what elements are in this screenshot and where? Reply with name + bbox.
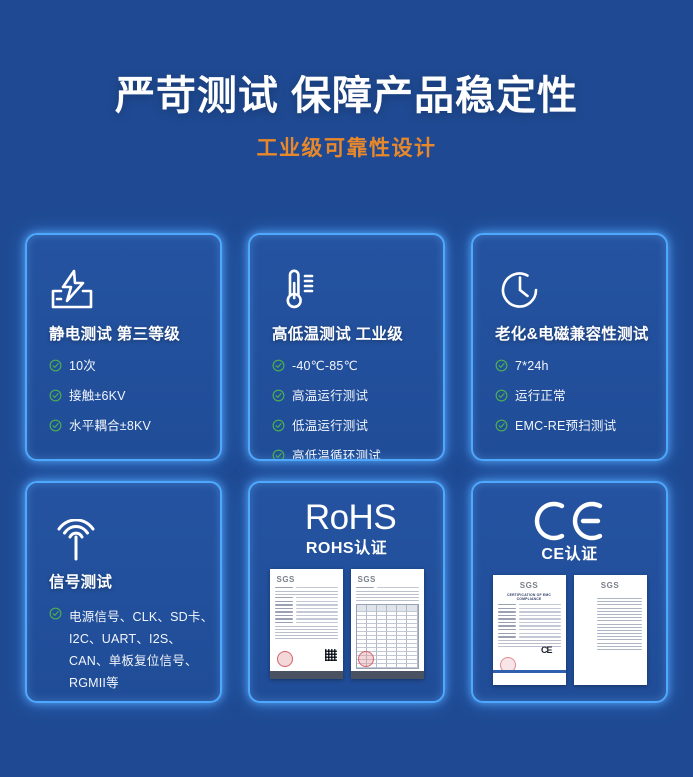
check-circle-icon <box>272 359 285 377</box>
cert-label: ROHS认证 <box>250 539 443 559</box>
check-circle-icon <box>495 419 508 437</box>
page-title: 严苛测试 保障产品稳定性 <box>0 0 693 118</box>
list-item: 高低温循环测试 <box>272 448 443 461</box>
card-temperature-test[interactable]: 高低温测试 工业级 -40℃-85℃ 高温运行测试 <box>248 233 445 461</box>
sgs-logo: SGS <box>579 581 642 590</box>
check-circle-icon <box>272 449 285 461</box>
certificate-seal <box>358 651 374 667</box>
esd-lightning-icon <box>49 257 220 315</box>
list-item: 7*24h <box>495 358 666 377</box>
certificate-thumbnails: SGS CERTIFICATION OF EMC COMPLIANCE <box>473 575 666 685</box>
rohs-logo: RoHS <box>250 499 443 537</box>
list-item-label: 低温运行测试 <box>292 418 368 435</box>
thermometer-icon <box>272 257 443 315</box>
page-subtitle: 工业级可靠性设计 <box>0 118 693 162</box>
list-item: EMC-RE预扫测试 <box>495 418 666 437</box>
clock-icon <box>495 257 666 315</box>
list-item: 电源信号、CLK、SD卡、I2C、UART、I2S、CAN、单板复位信号、RGM… <box>49 606 220 694</box>
list-item-label: EMC-RE预扫测试 <box>515 418 616 435</box>
document-footer <box>270 671 343 679</box>
list-item-label: 运行正常 <box>515 388 566 405</box>
list-item: 运行正常 <box>495 388 666 407</box>
sgs-logo: SGS <box>498 581 561 590</box>
ce-logo <box>473 499 666 543</box>
list-item: 接触±6KV <box>49 388 220 407</box>
document-footer <box>351 671 424 679</box>
card-item-list: 10次 接触±6KV 水平耦合±8KV <box>49 358 220 437</box>
check-circle-icon <box>495 389 508 407</box>
card-esd-test[interactable]: 静电测试 第三等级 10次 接触±6KV <box>25 233 222 461</box>
qr-code <box>325 649 337 661</box>
list-item-label: 接触±6KV <box>69 388 126 405</box>
sgs-logo: SGS <box>358 575 419 584</box>
list-item: 10次 <box>49 358 220 377</box>
certificate-document[interactable]: SGS CERTIFICATION OF EMC COMPLIANCE <box>493 575 566 685</box>
card-title: 信号测试 <box>49 573 220 593</box>
certificate-document[interactable]: SGS <box>270 569 343 679</box>
card-title: 静电测试 第三等级 <box>49 325 220 345</box>
card-signal-test[interactable]: 信号测试 电源信号、CLK、SD卡、I2C、UART、I2S、CAN、单板复位信… <box>25 481 222 703</box>
page-header: 严苛测试 保障产品稳定性 工业级可靠性设计 <box>0 0 693 162</box>
list-item-label: 水平耦合±8KV <box>69 418 151 435</box>
card-aging-emc-test[interactable]: 老化&电磁兼容性测试 7*24h 运行正常 <box>471 233 668 461</box>
list-item-label: -40℃-85℃ <box>292 358 358 375</box>
card-item-list: -40℃-85℃ 高温运行测试 低温运行测试 <box>272 358 443 461</box>
check-circle-icon <box>49 389 62 407</box>
check-circle-icon <box>272 389 285 407</box>
card-rohs-certification[interactable]: RoHS ROHS认证 SGS <box>248 481 445 703</box>
list-item-label: 10次 <box>69 358 96 375</box>
certificate-seal <box>277 651 293 667</box>
check-circle-icon <box>49 419 62 437</box>
ce-mark-icon: CE <box>541 645 552 655</box>
list-item: 水平耦合±8KV <box>49 418 220 437</box>
document-footer <box>493 670 566 673</box>
list-item: -40℃-85℃ <box>272 358 443 377</box>
sgs-logo: SGS <box>277 575 338 584</box>
card-ce-certification[interactable]: CE认证 SGS CERTIFICATION OF EMC COMPLIANCE <box>471 481 668 703</box>
list-item-label: 7*24h <box>515 358 549 375</box>
certificate-document[interactable]: SGS <box>351 569 424 679</box>
list-item-label: 高温运行测试 <box>292 388 368 405</box>
card-item-list: 电源信号、CLK、SD卡、I2C、UART、I2S、CAN、单板复位信号、RGM… <box>49 606 220 694</box>
cert-label: CE认证 <box>473 545 666 565</box>
check-circle-icon <box>272 419 285 437</box>
signal-wave-icon <box>49 505 220 563</box>
check-circle-icon <box>49 359 62 377</box>
check-circle-icon <box>49 607 62 625</box>
list-item-label: 电源信号、CLK、SD卡、I2C、UART、I2S、CAN、单板复位信号、RGM… <box>69 606 219 694</box>
document-title: CERTIFICATION OF EMC COMPLIANCE <box>498 593 561 601</box>
certificate-document[interactable]: SGS <box>574 575 647 685</box>
card-title: 老化&电磁兼容性测试 <box>495 325 666 345</box>
list-item: 低温运行测试 <box>272 418 443 437</box>
feature-card-grid: 静电测试 第三等级 10次 接触±6KV <box>25 233 668 703</box>
promo-page: 严苛测试 保障产品稳定性 工业级可靠性设计 静电测试 第三等级 <box>0 0 693 777</box>
list-item-label: 高低温循环测试 <box>292 448 381 461</box>
check-circle-icon <box>495 359 508 377</box>
card-item-list: 7*24h 运行正常 EMC-RE预扫测试 <box>495 358 666 437</box>
certificate-thumbnails: SGS <box>250 569 443 679</box>
list-item: 高温运行测试 <box>272 388 443 407</box>
card-title: 高低温测试 工业级 <box>272 325 443 345</box>
